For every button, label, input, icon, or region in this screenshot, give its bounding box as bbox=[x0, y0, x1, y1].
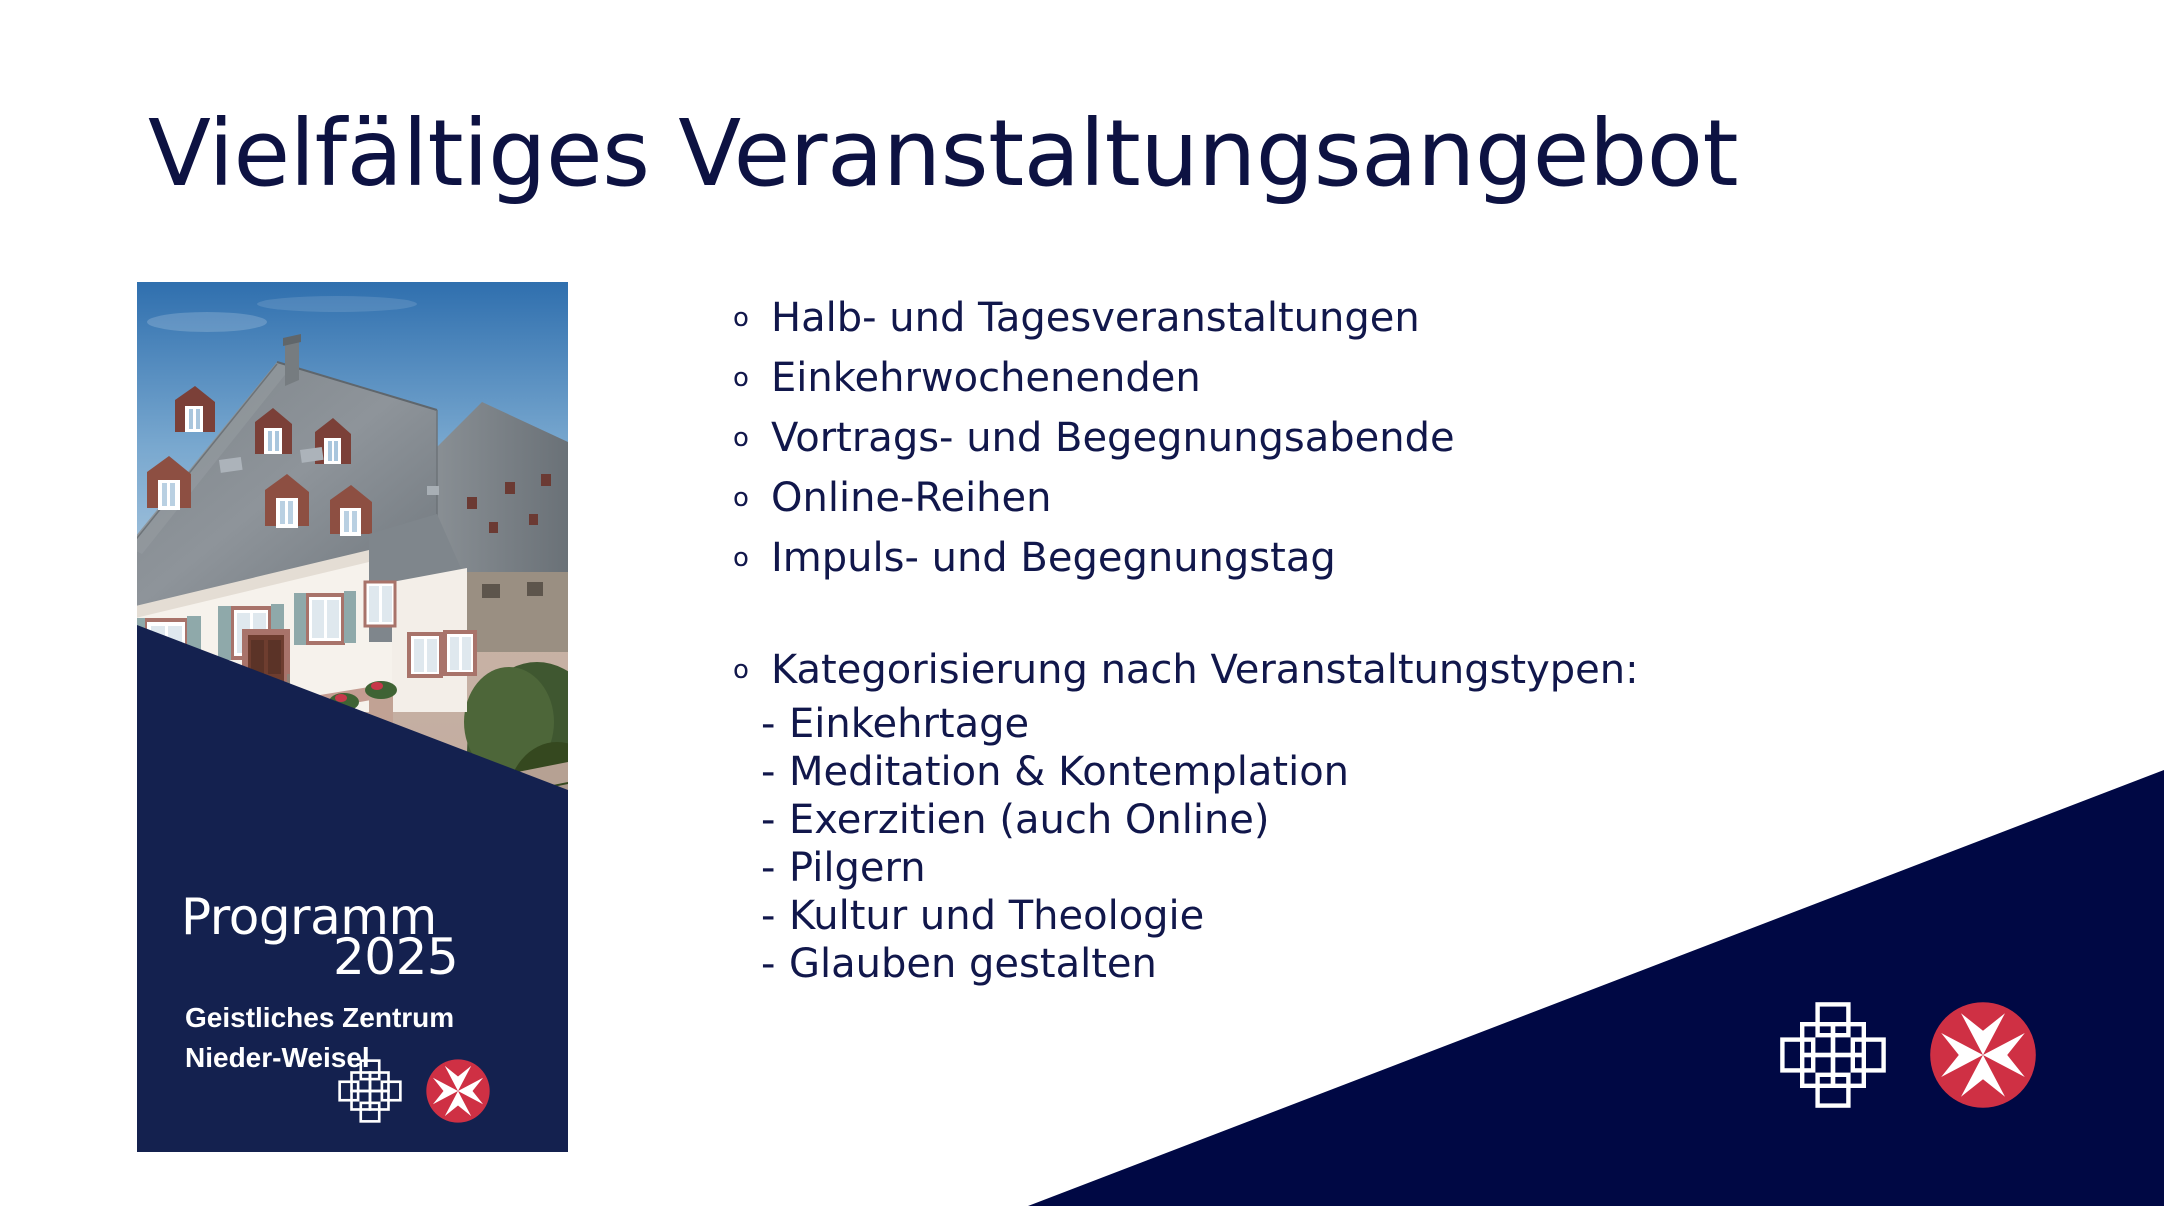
sub-list-item: - Glauben gestalten bbox=[733, 940, 1913, 988]
bullet-circle-icon: o bbox=[733, 348, 771, 408]
brochure-year-label: 2025 bbox=[333, 932, 458, 982]
dash-icon: - bbox=[761, 796, 789, 844]
sub-list-item-label: Kultur und Theologie bbox=[789, 892, 1204, 940]
brochure-text-block: Programm 2025 Geistliches Zentrum Nieder… bbox=[137, 892, 568, 1152]
bullet-circle-icon: o bbox=[733, 528, 771, 588]
presentation-slide: Vielfältiges Veranstaltungsangebot bbox=[0, 0, 2164, 1206]
list-item: o Online-Reihen bbox=[733, 468, 1913, 528]
list-item: o Halb- und Tagesveranstaltungen bbox=[733, 288, 1913, 348]
list-item-label: Online-Reihen bbox=[771, 468, 1052, 528]
list-item-categories-header: o Kategorisierung nach Veranstaltungstyp… bbox=[733, 640, 1913, 700]
sub-list-item: - Meditation & Kontemplation bbox=[733, 748, 1913, 796]
dash-icon: - bbox=[761, 844, 789, 892]
bullet-circle-icon: o bbox=[733, 288, 771, 348]
brochure-subtitle-line1: Geistliches Zentrum bbox=[185, 1002, 454, 1034]
johanniter-square-cross-logo bbox=[1778, 1000, 1888, 1110]
bullet-circle-icon: o bbox=[733, 640, 771, 700]
sub-list-item-label: Exerzitien (auch Online) bbox=[789, 796, 1270, 844]
list-item-label: Impuls- und Begegnungstag bbox=[771, 528, 1336, 588]
sub-list-item-label: Pilgern bbox=[789, 844, 926, 892]
sub-list-item: - Kultur und Theologie bbox=[733, 892, 1913, 940]
list-item: o Einkehrwochenenden bbox=[733, 348, 1913, 408]
list-item: o Vortrags- und Begegnungsabende bbox=[733, 408, 1913, 468]
corner-logo-group bbox=[1778, 1000, 2038, 1110]
maltese-cross-logo bbox=[1928, 1000, 2038, 1110]
sub-list-item: - Einkehrtage bbox=[733, 700, 1913, 748]
sub-list-item: - Exerzitien (auch Online) bbox=[733, 796, 1913, 844]
sub-list-item-label: Meditation & Kontemplation bbox=[789, 748, 1349, 796]
list-item-label: Vortrags- und Begegnungsabende bbox=[771, 408, 1455, 468]
bullet-list-container: o Halb- und Tagesveranstaltungen o Einke… bbox=[733, 288, 1913, 988]
sub-list-item-label: Glauben gestalten bbox=[789, 940, 1157, 988]
bullet-circle-icon: o bbox=[733, 468, 771, 528]
page-title: Vielfältiges Veranstaltungsangebot bbox=[148, 108, 2048, 200]
sub-list-item: - Pilgern bbox=[733, 844, 1913, 892]
list-item-label: Halb- und Tagesveranstaltungen bbox=[771, 288, 1420, 348]
list-item: o Impuls- und Begegnungstag bbox=[733, 528, 1913, 588]
brochure-logo-group bbox=[337, 1058, 491, 1124]
list-item-label: Einkehrwochenenden bbox=[771, 348, 1201, 408]
dash-icon: - bbox=[761, 892, 789, 940]
list-spacer bbox=[733, 588, 1913, 640]
sub-list-item-label: Einkehrtage bbox=[789, 700, 1029, 748]
dash-icon: - bbox=[761, 700, 789, 748]
bullet-circle-icon: o bbox=[733, 408, 771, 468]
dash-icon: - bbox=[761, 748, 789, 796]
brochure-cover-image: Programm 2025 Geistliches Zentrum Nieder… bbox=[137, 282, 568, 1152]
list-item-label: Kategorisierung nach Veranstaltungstypen… bbox=[771, 640, 1639, 700]
maltese-cross-logo bbox=[425, 1058, 491, 1124]
dash-icon: - bbox=[761, 940, 789, 988]
johanniter-square-cross-logo bbox=[337, 1058, 403, 1124]
